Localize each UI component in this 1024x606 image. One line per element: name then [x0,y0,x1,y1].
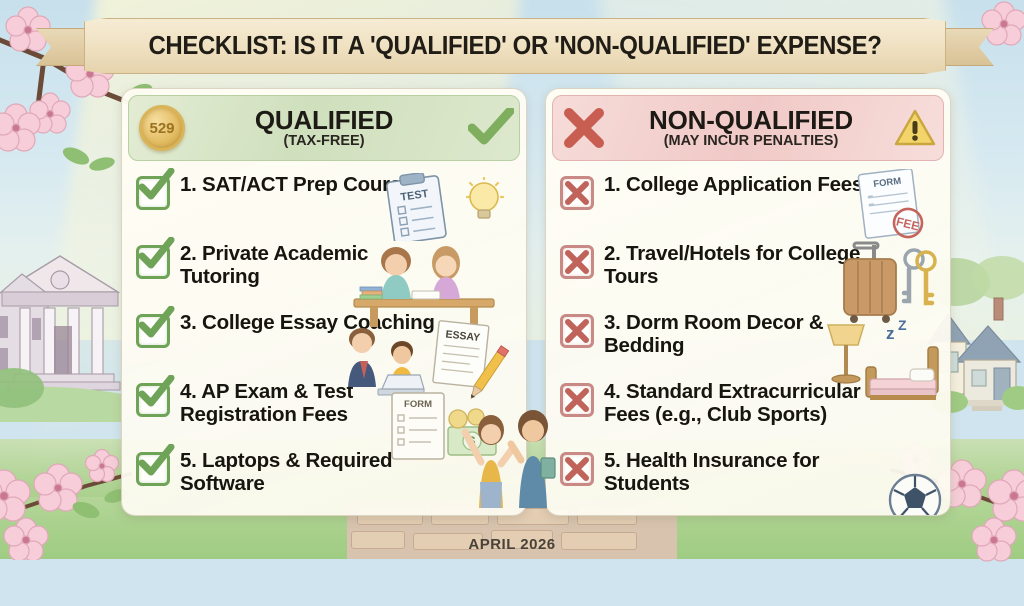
list-item[interactable]: 4. Standard Extracurricular Fees (e.g., … [546,380,950,436]
list-item-number: 3. [180,311,202,334]
nonqualified-header: NON-QUALIFIED (MAY INCUR PENALTIES) [552,95,944,161]
checkbox-x-icon[interactable] [560,452,594,486]
qualified-header-text: QUALIFIED (TAX-FREE) [185,107,463,150]
list-item-label: Dorm Room Decor & Bedding [604,311,823,357]
list-item-text: 5. Health Insurance for Students [604,449,884,495]
banner: CHECKLIST: IS IT A 'QUALIFIED' OR 'NON-Q… [84,18,946,74]
list-item-label: SAT/ACT Prep Courses [202,173,423,196]
nonqualified-title: NON-QUALIFIED [615,107,887,134]
list-item-text: 3. Dorm Room Decor & Bedding [604,311,884,357]
list-item-number: 3. [604,311,626,334]
checkbox-checked-icon[interactable] [136,176,170,210]
list-item-text: 1. SAT/ACT Prep Courses [180,173,423,196]
list-item-label: Private Academic Tutoring [180,242,368,288]
list-item-number: 4. [604,380,626,403]
list-item-number: 2. [180,242,202,265]
list-item-text: 4. AP Exam & Test Registration Fees [180,380,448,426]
list-item-label: College Essay Coaching [202,311,435,334]
list-item-text: 4. Standard Extracurricular Fees (e.g., … [604,380,884,426]
green-check-icon [463,108,519,148]
nonqualified-subtitle: (MAY INCUR PENALTIES) [615,134,887,149]
list-item-number: 4. [180,380,201,403]
list-item[interactable]: 1. College Application Fees [546,173,950,229]
checkbox-x-icon[interactable] [560,314,594,348]
list-item-text: 3. College Essay Coaching [180,311,435,334]
list-item[interactable]: 5. Health Insurance for Students [546,449,950,505]
qualified-subtitle: (TAX-FREE) [185,134,463,149]
checkbox-checked-icon[interactable] [136,314,170,348]
list-item-label: AP Exam & Test Registration Fees [180,380,353,426]
list-item-label: Health Insurance for Students [604,449,819,495]
list-item[interactable]: 1. SAT/ACT Prep Courses [122,173,526,229]
nonqualified-column: NON-QUALIFIED (MAY INCUR PENALTIES) FORM… [545,88,951,516]
list-item-label: College Application Fees [626,173,863,196]
qualified-header: 529 QUALIFIED (TAX-FREE) [128,95,520,161]
list-item[interactable]: 3. Dorm Room Decor & Bedding [546,311,950,367]
list-item-text: 2. Travel/Hotels for College Tours [604,242,884,288]
warning-triangle-icon [887,108,943,148]
qualified-column: 529 QUALIFIED (TAX-FREE) TEST [121,88,527,516]
footer-date: APRIL 2026 [0,536,1024,553]
checkbox-checked-icon[interactable] [136,245,170,279]
checkbox-x-icon[interactable] [560,245,594,279]
list-item-number: 1. [604,173,626,196]
checkbox-checked-icon[interactable] [136,452,170,486]
list-item-label: Laptops & Required Software [180,449,392,495]
list-item[interactable]: 5. Laptops & Required Software [122,449,526,505]
list-item[interactable]: 4. AP Exam & Test Registration Fees [122,380,526,436]
list-item-label: Standard Extracurricular Fees (e.g., Clu… [604,380,860,426]
list-item-text: 5. Laptops & Required Software [180,449,448,495]
list-item[interactable]: 2. Private Academic Tutoring [122,242,526,298]
list-item-text: 2. Private Academic Tutoring [180,242,448,288]
list-item[interactable]: 2. Travel/Hotels for College Tours [546,242,950,298]
nonqualified-list: 1. College Application Fees 2. Travel/Ho… [546,161,950,505]
list-item[interactable]: 3. College Essay Coaching [122,311,526,367]
list-item-number: 1. [180,173,202,196]
list-item-number: 5. [180,449,202,472]
red-x-icon [553,108,615,148]
qualified-list: 1. SAT/ACT Prep Courses 2. Private Acade… [122,161,526,505]
list-item-text: 1. College Application Fees [604,173,863,196]
page-title: CHECKLIST: IS IT A 'QUALIFIED' OR 'NON-Q… [110,18,920,74]
checkbox-x-icon[interactable] [560,176,594,210]
checkbox-checked-icon[interactable] [136,383,170,417]
qualified-title: QUALIFIED [185,107,463,134]
coin-529-icon: 529 [139,105,185,151]
nonqualified-header-text: NON-QUALIFIED (MAY INCUR PENALTIES) [615,107,887,150]
list-item-number: 5. [604,449,626,472]
list-item-number: 2. [604,242,626,265]
list-item-label: Travel/Hotels for College Tours [604,242,860,288]
checkbox-x-icon[interactable] [560,383,594,417]
